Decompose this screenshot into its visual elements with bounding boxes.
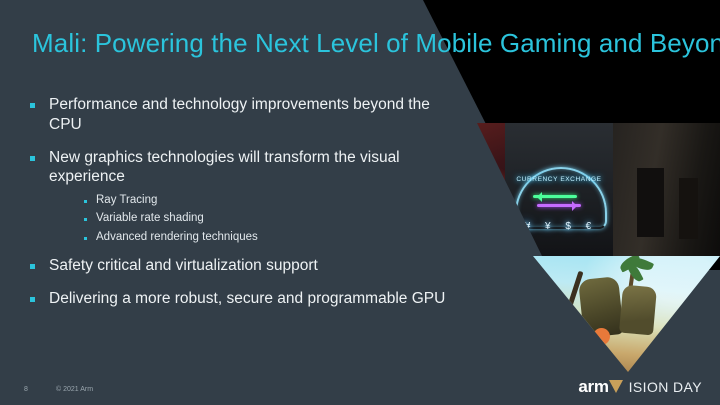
neon-sign: CURRENCY EXCHANGE ₩ ¥ $ € (511, 165, 607, 243)
bullet-marker-icon (30, 297, 35, 302)
sub-bullet-marker-icon (84, 200, 87, 203)
inverted-triangle-image (533, 256, 720, 372)
list-item-label: Delivering a more robust, secure and pro… (49, 289, 445, 309)
list-item: Safety critical and virtualization suppo… (30, 256, 460, 276)
list-item-label: New graphics technologies will transform… (49, 148, 460, 188)
bullet-marker-icon (30, 264, 35, 269)
jungle-soldier-screenshot (533, 256, 720, 372)
sub-bullet-marker-icon (84, 218, 87, 221)
soldier-figure (619, 285, 657, 336)
sub-list-item-label: Advanced rendering techniques (96, 230, 258, 245)
list-item: New graphics technologies will transform… (30, 148, 460, 188)
sub-list-item-label: Ray Tracing (96, 193, 157, 208)
neon-arrow-left-icon (533, 195, 577, 198)
dark-alley-screenshot (613, 123, 720, 256)
list-item: Delivering a more robust, secure and pro… (30, 289, 460, 309)
sub-list-item: Advanced rendering techniques (84, 230, 460, 245)
neon-currency-exchange-screenshot: CURRENCY EXCHANGE ₩ ¥ $ € (505, 123, 613, 256)
presentation-slide: CURRENCY EXCHANGE ₩ ¥ $ € Mali: Powering… (0, 0, 720, 405)
triangle-v-icon (609, 380, 623, 393)
page-number: 8 (24, 386, 28, 393)
sub-bullet-marker-icon (84, 237, 87, 240)
arm-vision-day-logo: arm ISION DAY (578, 378, 702, 395)
bullet-marker-icon (30, 156, 35, 161)
neon-currency-symbols: ₩ ¥ $ € (511, 221, 607, 232)
sub-list-item-label: Variable rate shading (96, 211, 204, 226)
list-item-label: Safety critical and virtualization suppo… (49, 256, 318, 276)
arm-wordmark: arm (578, 378, 608, 395)
copyright-notice: © 2021 Arm (56, 386, 93, 393)
sub-bullet-list: Ray Tracing Variable rate shading Advanc… (84, 193, 460, 245)
list-item-label: Performance and technology improvements … (49, 95, 460, 135)
bullet-marker-icon (30, 103, 35, 108)
list-item: Performance and technology improvements … (30, 95, 460, 135)
foreground-object (593, 328, 610, 345)
bullet-list: Performance and technology improvements … (30, 95, 460, 321)
sub-list-item: Variable rate shading (84, 211, 460, 226)
sub-list-item: Ray Tracing (84, 193, 460, 208)
neon-sign-text: CURRENCY EXCHANGE (511, 176, 607, 183)
vision-day-wordmark: ISION DAY (629, 380, 702, 394)
page-title: Mali: Powering the Next Level of Mobile … (32, 28, 720, 59)
neon-arrow-right-icon (537, 204, 581, 207)
